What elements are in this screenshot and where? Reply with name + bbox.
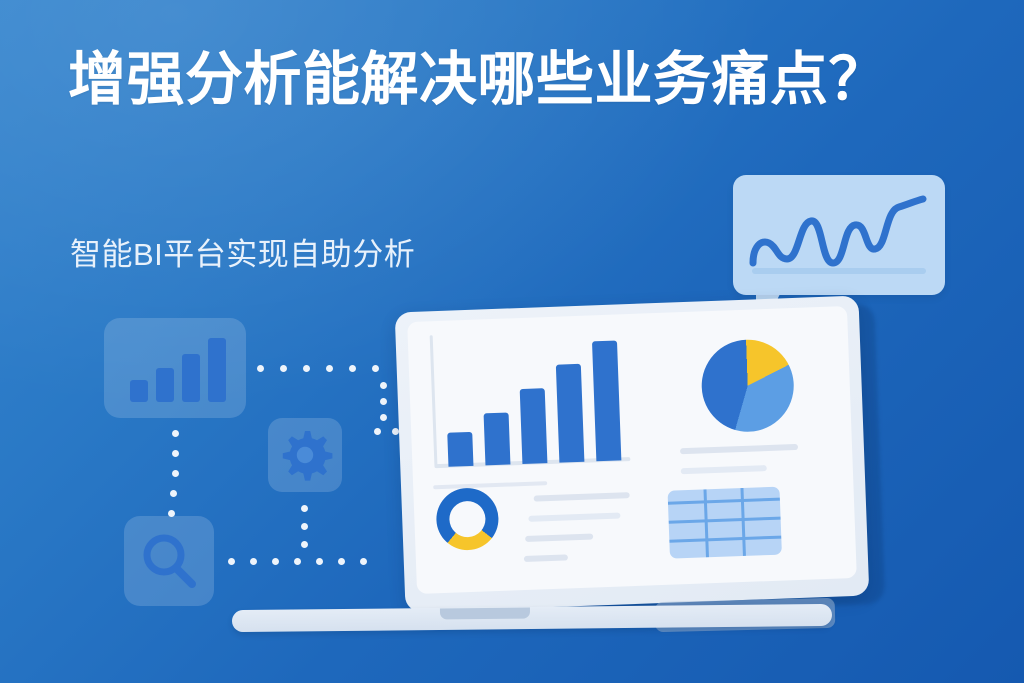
search-icon-tile[interactable] [124, 516, 214, 606]
gear-icon [268, 418, 342, 492]
laptop-lid [395, 296, 870, 613]
pie-chart [700, 338, 795, 433]
dashboard [407, 306, 857, 594]
page-title: 增强分析能解决哪些业务痛点？ [68, 46, 918, 114]
gear-icon-tile[interactable] [268, 418, 342, 492]
trend-line-bubble [733, 175, 945, 295]
laptop-trackpad-notch [440, 608, 530, 620]
table-col-line-2 [740, 488, 745, 556]
page-subtitle: 智能BI平台实现自助分析 [70, 229, 415, 274]
bar-1 [447, 432, 473, 467]
text-line-2 [528, 512, 620, 521]
bar-chart-y-axis [430, 335, 438, 467]
bar-2 [484, 412, 511, 465]
table-row-line-2 [669, 536, 781, 543]
text-line-3 [525, 533, 593, 541]
poster-canvas: 增强分析能解决哪些业务痛点？ 智能BI平台实现自助分析 [0, 0, 1024, 683]
table-row-line-1 [669, 517, 781, 524]
bar-4 [556, 364, 585, 463]
laptop-base [232, 604, 832, 632]
bar-3 [520, 388, 548, 464]
search-icon [124, 516, 214, 606]
laptop-shadow [415, 304, 886, 621]
laptop-hinge [655, 598, 836, 632]
table-col-line-1 [703, 489, 708, 557]
text-line-1 [534, 492, 630, 502]
bar-5 [592, 340, 621, 461]
bar-chart-icon-tile[interactable] [104, 318, 246, 418]
data-table [668, 487, 782, 559]
speech-bubble-tail [756, 294, 780, 328]
bar-chart-divider [433, 481, 547, 489]
trend-line-chart-icon [747, 189, 931, 275]
pie-caption-line-2 [681, 465, 767, 474]
text-line-4 [524, 554, 568, 562]
bar-chart-x-axis [434, 457, 630, 468]
bar-chart-icon [104, 318, 246, 418]
bubble-baseline [752, 268, 926, 274]
donut-chart [435, 487, 499, 551]
pie-caption-line-1 [680, 444, 798, 454]
laptop-screen [407, 306, 857, 594]
table-header-line [668, 498, 780, 505]
